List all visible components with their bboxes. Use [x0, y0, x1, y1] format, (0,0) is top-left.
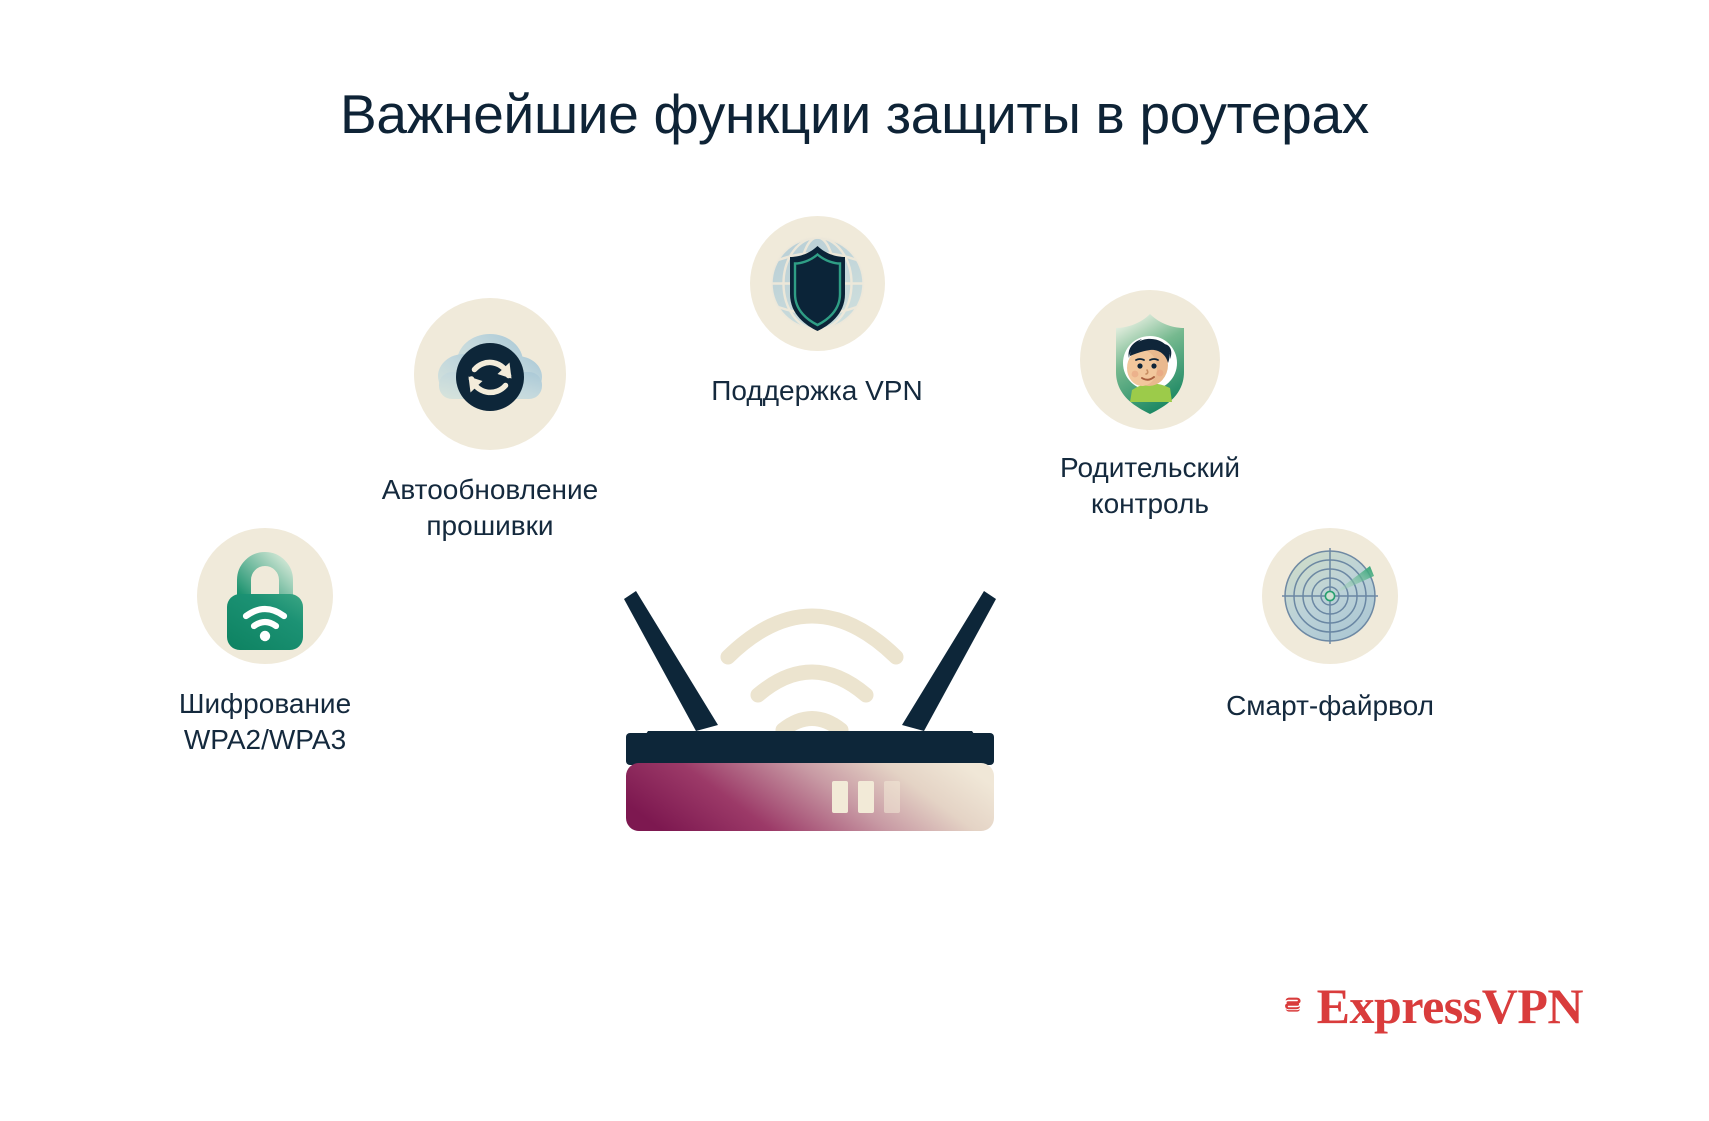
- feature-label-encryption: Шифрование WPA2/WPA3: [179, 686, 351, 758]
- feature-encryption: Шифрование WPA2/WPA3: [110, 528, 420, 758]
- feature-label-parental: Родительский контроль: [1060, 450, 1240, 522]
- badge-circle-encryption: [197, 528, 333, 664]
- badge-circle-parental: [1080, 290, 1220, 430]
- shield-child-icon: [1080, 290, 1220, 430]
- cloud-refresh-icon: [414, 298, 566, 450]
- badge-circle-firewall: [1262, 528, 1398, 664]
- radar-icon: [1262, 528, 1398, 664]
- brand-wordmark: ExpressVPN: [1317, 981, 1583, 1031]
- wifi-router-icon: [600, 545, 1020, 855]
- badge-circle-vpn: [750, 216, 885, 351]
- infographic-canvas: Важнейшие функции защиты в роутерах: [0, 0, 1709, 1121]
- feature-parental: Родительский контроль: [1000, 290, 1300, 522]
- router-illustration: [600, 545, 1020, 855]
- feature-label-vpn: Поддержка VPN: [711, 373, 922, 409]
- expressvpn-e-icon: [1283, 973, 1303, 1039]
- feature-vpn: Поддержка VPN: [662, 216, 972, 409]
- brand-logo[interactable]: ExpressVPN: [1283, 970, 1583, 1042]
- padlock-wifi-icon: [197, 528, 333, 664]
- page-title: Важнейшие функции защиты в роутерах: [0, 82, 1709, 146]
- badge-circle-autoupdate: [414, 298, 566, 450]
- feature-autoupdate: Автообновление прошивки: [325, 298, 655, 544]
- globe-shield-icon: [750, 216, 885, 351]
- feature-label-firewall: Смарт-файрвол: [1226, 688, 1434, 724]
- feature-firewall: Смарт-файрвол: [1165, 528, 1495, 724]
